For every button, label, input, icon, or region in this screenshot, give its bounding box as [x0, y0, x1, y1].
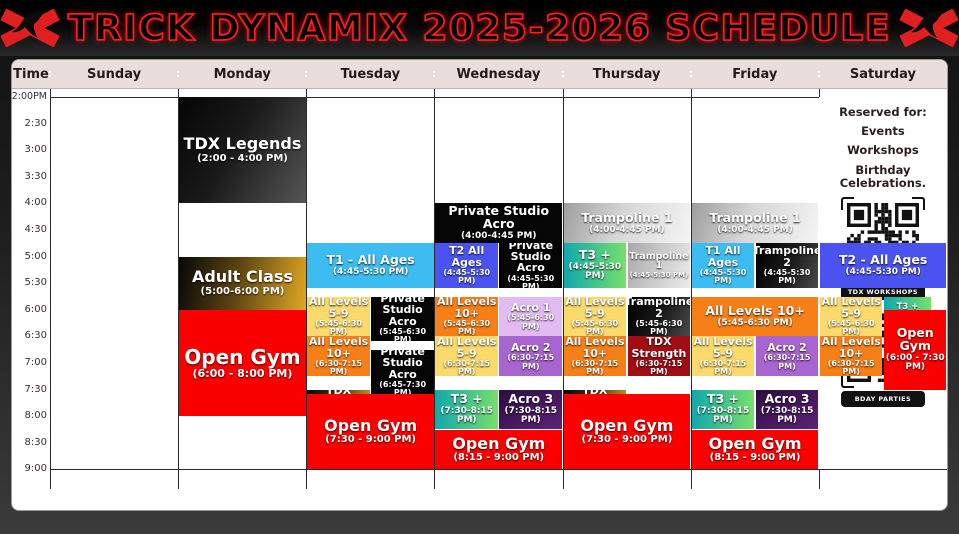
saturday-line: Workshops [847, 144, 919, 157]
class-block[interactable]: Acro 3(7:30-8:15 PM) [756, 390, 819, 430]
class-name: Private Studio Acro [436, 205, 561, 231]
column-header-friday: Friday [691, 67, 819, 82]
class-block[interactable]: T2 All Ages(4:45-5:30 PM) [435, 243, 498, 287]
class-name: T1 All Ages [693, 245, 754, 268]
class-block[interactable]: Acro 3(7:30-8:15 PM) [499, 390, 562, 430]
class-block[interactable]: All Levels 10+(5:45-6:30 PM) [435, 297, 498, 337]
class-time: (7:30-8:15 PM) [693, 407, 754, 426]
class-time: (4:45-5:30 PM) [565, 263, 626, 282]
class-name: Acro 1 [511, 302, 551, 313]
class-time: (6:00 - 7:30 PM) [885, 354, 946, 373]
class-name: T2 - All Ages [839, 254, 927, 267]
class-block[interactable]: Open Gym(8:15 - 9:00 PM) [692, 430, 819, 470]
class-block[interactable]: Acro 2(6:30-7:15 PM) [499, 336, 562, 376]
time-label: 2:00PM [12, 91, 47, 102]
class-time: (6:30-7:15 PM) [500, 354, 561, 370]
class-time: (6:30-7:15 PM) [565, 360, 626, 376]
class-name: All Levels 5-9 [308, 297, 369, 320]
class-name: Acro 2 [767, 342, 807, 353]
class-name: Trampoline 1 [629, 252, 690, 272]
class-name: Open Gym [708, 436, 801, 452]
time-label: 8:30 [25, 437, 47, 448]
day-column-sunday: TDX Legends(2:00 - 4:00 PM)Adult Class(5… [178, 89, 306, 489]
class-time: (7:30 - 9:00 PM) [325, 435, 416, 445]
class-time: (6:00 - 8:00 PM) [193, 368, 293, 379]
class-name: T2 All Ages [436, 245, 497, 268]
class-block[interactable]: All Levels 10+(6:30-7:15 PM) [307, 336, 370, 376]
class-block[interactable]: All Levels 10+(5:45-6:30 PM) [692, 297, 819, 337]
class-time: (4:45-5:30 PM) [693, 269, 754, 285]
class-time: (5:45-6:30 PM) [821, 320, 882, 336]
class-time: (7:30-8:15 PM) [757, 407, 818, 426]
class-block[interactable]: Private Studio Acro(4:00-4:45 PM) [435, 203, 562, 243]
acrobat-figure-icon [907, 8, 951, 48]
class-time: (8:15 - 9:00 PM) [453, 453, 544, 463]
class-block[interactable]: Trampoline 1(4:00-4:45 PM) [692, 203, 819, 243]
time-label: 7:30 [25, 384, 47, 395]
class-name: All Levels 5-9 [436, 336, 497, 359]
class-block[interactable]: T2 - All Ages(4:45-5:30 PM) [820, 243, 947, 287]
class-name: All Levels 10+ [565, 336, 626, 359]
class-block[interactable]: Open Gym(8:15 - 9:00 PM) [435, 430, 562, 470]
class-block[interactable]: Adult Class(5:00-6:00 PM) [179, 257, 306, 310]
class-time: (5:45-6:30 PM) [308, 320, 369, 336]
class-name: Private Studio Acro [372, 350, 433, 380]
class-time: (4:45-5:30 PM) [630, 272, 689, 279]
class-time: (4:45-5:30 PM) [436, 269, 497, 285]
class-time: (5:45-6:30 PM) [372, 328, 433, 341]
class-time: (2:00 - 4:00 PM) [197, 154, 288, 164]
class-block[interactable]: Trampoline 2(5:45-6:30 PM) [628, 297, 691, 337]
class-block[interactable]: Trampoline 2(4:45-5:30 PM) [756, 243, 819, 287]
class-block[interactable]: Acro 1(5:45-6:30 PM) [499, 297, 562, 337]
class-name: All Levels 10+ [308, 336, 369, 359]
class-block[interactable]: TDX Legends(2:00 - 4:00 PM) [179, 97, 306, 203]
class-name: Acro 3 [765, 393, 810, 406]
class-time: (5:45-6:30 PM) [500, 314, 561, 330]
saturday-line: Events [861, 125, 905, 138]
class-name: Open Gym [885, 327, 946, 353]
tdx-x-logo-left [2, 7, 58, 49]
class-time: (6:30-7:15 PM) [821, 360, 882, 376]
class-time: (6:45-7:30 PM) [372, 381, 433, 394]
column-header-label: Tuesday [341, 67, 400, 82]
class-time: (5:45-6:30 PM) [717, 319, 792, 328]
class-time: (4:45-5:30 PM) [500, 275, 561, 288]
class-name: Trampoline 1 [581, 212, 672, 225]
class-time: (6:30-7:15 PM) [629, 360, 690, 376]
class-block[interactable]: All Levels 5-9(5:45-6:30 PM) [307, 297, 370, 337]
class-name: All Levels 5-9 [565, 297, 626, 320]
class-block[interactable]: T3 +(7:30-8:15 PM) [692, 390, 755, 430]
class-time: (7:30-8:15 PM) [500, 407, 561, 426]
page-title: TRICK DYNAMIX 2025-2026 SCHEDULE [68, 8, 891, 49]
class-name: Open Gym [184, 347, 300, 368]
saturday-line: Reserved for: [839, 106, 927, 119]
class-time: (4:45-5:30 PM) [333, 268, 408, 277]
day-column-wednesday: Trampoline 1(4:00-4:45 PM)T3 +(4:45-5:30… [563, 89, 691, 489]
day-column-monday: T1 - All Ages(4:45-5:30 PM)All Levels 5-… [306, 89, 434, 489]
class-name: T3 + [451, 393, 483, 406]
saturday-line: Birthday Celebrations. [819, 164, 947, 190]
column-header-label: Monday [214, 67, 271, 82]
time-label: 4:00 [25, 197, 47, 208]
class-time: (7:30 - 9:00 PM) [582, 435, 673, 445]
class-name: Adult Class [192, 269, 293, 285]
class-block[interactable]: TDX Strength(6:30-7:15 PM) [628, 336, 691, 376]
class-name: All Levels 5-9 [821, 297, 882, 320]
class-time: (4:00-4:45 PM) [461, 232, 536, 241]
class-time: (5:45-6:30 PM) [565, 320, 626, 336]
column-header-label: Time [13, 67, 49, 82]
class-block[interactable]: All Levels 5-9(6:30-7:15 PM) [435, 336, 498, 376]
class-time: (8:15 - 9:00 PM) [710, 453, 801, 463]
tdx-x-logo-right [901, 7, 957, 49]
class-time: (6:30-7:15 PM) [693, 360, 754, 376]
class-name: Private Studio Acro [500, 243, 561, 273]
class-time: (6:30-7:15 PM) [308, 360, 369, 376]
column-header-label: Thursday [593, 67, 661, 82]
class-name: Open Gym [324, 418, 417, 434]
class-name: All Levels 10+ [821, 336, 882, 359]
schedule-header-row: TimeSundayMondayTuesdayWednesdayThursday… [12, 60, 947, 89]
class-time: (4:45-5:30 PM) [845, 268, 920, 277]
class-time: (4:00-4:45 PM) [717, 226, 792, 235]
time-label: 5:00 [25, 251, 47, 262]
qr-label-button[interactable]: BDAY PARTIES [841, 391, 925, 407]
column-header-tuesday: Tuesday [306, 67, 434, 82]
class-name: All Levels 10+ [436, 297, 497, 320]
day-column-tuesday: Private Studio Acro(4:00-4:45 PM)T2 All … [434, 89, 562, 489]
column-gridline [50, 89, 51, 489]
class-time: (5:45-6:30 PM) [436, 320, 497, 336]
time-label: 5:30 [25, 277, 47, 288]
column-header-label: Saturday [850, 67, 916, 82]
column-header-wednesday: Wednesday [434, 67, 562, 82]
class-block[interactable]: Open Gym(7:30 - 9:00 PM) [307, 394, 434, 469]
class-block[interactable]: Private Studio Acro(4:45-5:30 PM) [499, 243, 562, 287]
schedule-table: TimeSundayMondayTuesdayWednesdayThursday… [12, 60, 947, 510]
column-header-label: Friday [732, 67, 777, 82]
schedule-poster: TRICK DYNAMIX 2025-2026 SCHEDULE TimeSun… [0, 0, 959, 534]
column-header-thursday: Thursday [563, 67, 691, 82]
class-block[interactable]: T1 All Ages(4:45-5:30 PM) [692, 243, 755, 287]
time-axis: 2:00PM2:303:003:304:004:305:005:306:006:… [12, 89, 50, 489]
class-block[interactable]: Acro 2(6:30-7:15 PM) [756, 336, 819, 376]
time-label: 3:30 [25, 171, 47, 182]
class-block[interactable]: All Levels 10+(6:30-7:15 PM) [564, 336, 627, 376]
class-block[interactable]: Open Gym(7:30 - 9:00 PM) [564, 394, 691, 469]
class-block[interactable]: T3 +(7:30-8:15 PM) [435, 390, 498, 430]
time-label: 2:30 [25, 118, 47, 129]
class-time: (4:45-5:30 PM) [757, 269, 818, 285]
class-name: All Levels 5-9 [693, 336, 754, 359]
class-time: (4:00-4:45 PM) [589, 226, 664, 235]
column-header-sunday: Sunday [50, 67, 178, 82]
class-block[interactable]: T3 +(4:45-5:30 PM) [564, 243, 627, 287]
class-name: T3 + [707, 393, 739, 406]
class-name: Open Gym [580, 418, 673, 434]
class-block[interactable]: Open Gym(6:00 - 7:30 PM) [884, 310, 947, 390]
class-name: Acro 3 [508, 393, 553, 406]
class-time: (6:30-7:15 PM) [757, 354, 818, 370]
class-name: TDX Legends [184, 136, 302, 152]
class-name: All Levels 10+ [705, 305, 805, 318]
class-block[interactable]: Private Studio Acro(6:45-7:30 PM) [371, 350, 434, 394]
column-header-label: Wednesday [457, 67, 541, 82]
acrobat-figure-icon [8, 8, 52, 48]
column-header-time: Time [12, 67, 50, 82]
class-time: (7:30-8:15 PM) [436, 407, 497, 426]
class-block[interactable]: Private Studio Acro(5:45-6:30 PM) [371, 297, 434, 341]
class-name: Trampoline 2 [628, 297, 691, 320]
class-name: Acro 2 [511, 342, 551, 353]
day-column-thursday: Trampoline 1(4:00-4:45 PM)T1 All Ages(4:… [691, 89, 819, 489]
time-label: 3:00 [25, 144, 47, 155]
time-label: 4:30 [25, 224, 47, 235]
class-name: T3 + [579, 249, 611, 262]
class-name: Trampoline 2 [756, 245, 819, 268]
class-time: (5:00-6:00 PM) [201, 287, 285, 297]
column-header-label: Sunday [87, 67, 141, 82]
class-block[interactable]: Open Gym(6:00 - 8:00 PM) [179, 310, 306, 416]
class-block[interactable]: All Levels 10+(6:30-7:15 PM) [820, 336, 883, 376]
class-block[interactable]: T1 - All Ages(4:45-5:30 PM) [307, 243, 434, 287]
class-name: Trampoline 1 [709, 212, 800, 225]
class-block[interactable]: Trampoline 1(4:45-5:30 PM) [628, 243, 691, 287]
class-block[interactable]: All Levels 5-9(6:30-7:15 PM) [692, 336, 755, 376]
time-label: 8:00 [25, 410, 47, 421]
time-label: 6:00 [25, 304, 47, 315]
column-header-monday: Monday [178, 67, 306, 82]
class-block[interactable]: All Levels 5-9(5:45-6:30 PM) [564, 297, 627, 337]
column-header-saturday: Saturday [819, 67, 947, 82]
class-name: T1 - All Ages [326, 254, 414, 267]
class-name: Private Studio Acro [372, 297, 433, 327]
poster-banner: TRICK DYNAMIX 2025-2026 SCHEDULE [0, 0, 959, 56]
class-block[interactable]: All Levels 5-9(5:45-6:30 PM) [820, 297, 883, 337]
schedule-grid: 2:00PM2:303:003:304:004:305:005:306:006:… [12, 89, 947, 489]
time-label: 6:30 [25, 330, 47, 341]
class-name: TDX Strength [629, 336, 690, 359]
time-label: 9:00 [25, 463, 47, 474]
class-time: (5:45-6:30 PM) [629, 320, 690, 336]
time-label: 7:00 [25, 357, 47, 368]
class-block[interactable]: Trampoline 1(4:00-4:45 PM) [564, 203, 691, 243]
class-name: Open Gym [452, 436, 545, 452]
class-time: (6:30-7:15 PM) [436, 360, 497, 376]
